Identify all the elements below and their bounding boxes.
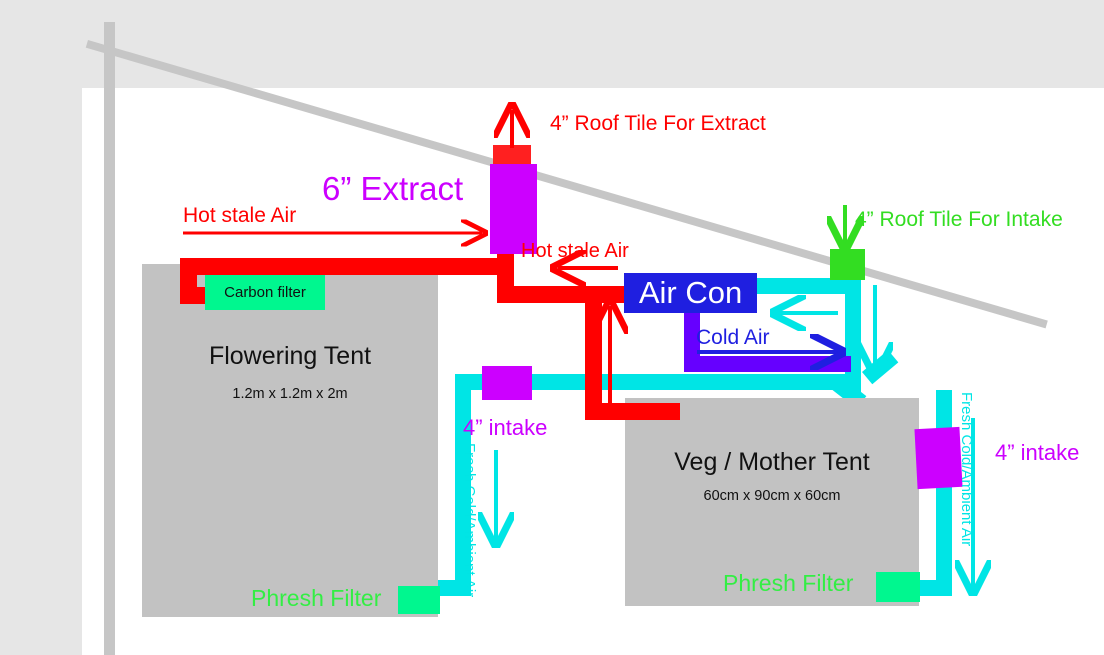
phresh-filter-box-veg[interactable] [876,572,920,602]
label-fresh-air-veg: Fresh Cold/Ambient Air [958,392,975,546]
label-4in-intake-flowering: 4” intake [463,415,547,441]
flowering-tent: Flowering Tent 1.2m x 1.2m x 2m [142,264,438,617]
purple-duct-cold-run [684,356,851,372]
diagram-canvas: Flowering Tent 1.2m x 1.2m x 2m Veg / Mo… [0,0,1104,655]
cyan-duct-veg-vertical [936,390,952,588]
carbon-filter-box[interactable]: Carbon filter [205,275,325,310]
veg-tent-title: Veg / Mother Tent [625,448,919,477]
roof-tile-intake-box[interactable] [830,249,865,280]
air-con-label: Air Con [624,273,757,313]
label-phresh-filter-veg: Phresh Filter [723,570,853,597]
label-cold-air: Cold Air [696,326,770,350]
cyan-duct-aircon-return [845,374,861,394]
wall-post-line [104,22,115,655]
intake-fan-box-veg[interactable] [914,427,962,489]
carbon-filter-label: Carbon filter [205,275,325,310]
label-phresh-filter-flowering: Phresh Filter [251,585,381,612]
label-hot-stale-air-1: Hot stale Air [183,204,296,228]
cyan-duct-aircon-top [757,278,857,294]
flowering-tent-dims: 1.2m x 1.2m x 2m [142,386,438,402]
label-hot-stale-air-2: Hot stale Air [521,240,629,263]
red-duct-aircon-run [497,286,637,303]
veg-tent-dims: 60cm x 90cm x 60cm [625,488,919,504]
intake-fan-box-flowering[interactable] [482,366,532,400]
red-duct-top-run [180,258,514,275]
flowering-tent-title: Flowering Tent [142,342,438,371]
label-6in-extract: 6” Extract [322,170,463,208]
phresh-filter-box-flowering[interactable] [398,586,440,614]
label-roof-tile-intake: 4” Roof Tile For Intake [855,208,1063,232]
red-duct-veg-inlet [585,403,680,420]
label-roof-tile-extract: 4” Roof Tile For Extract [550,112,766,136]
red-duct-veg-riser [585,286,602,420]
air-con-unit[interactable]: Air Con [624,273,757,313]
label-fresh-air-flowering: Fresh Cold/Ambient Air [461,443,478,597]
label-4in-intake-veg: 4” intake [995,440,1079,466]
